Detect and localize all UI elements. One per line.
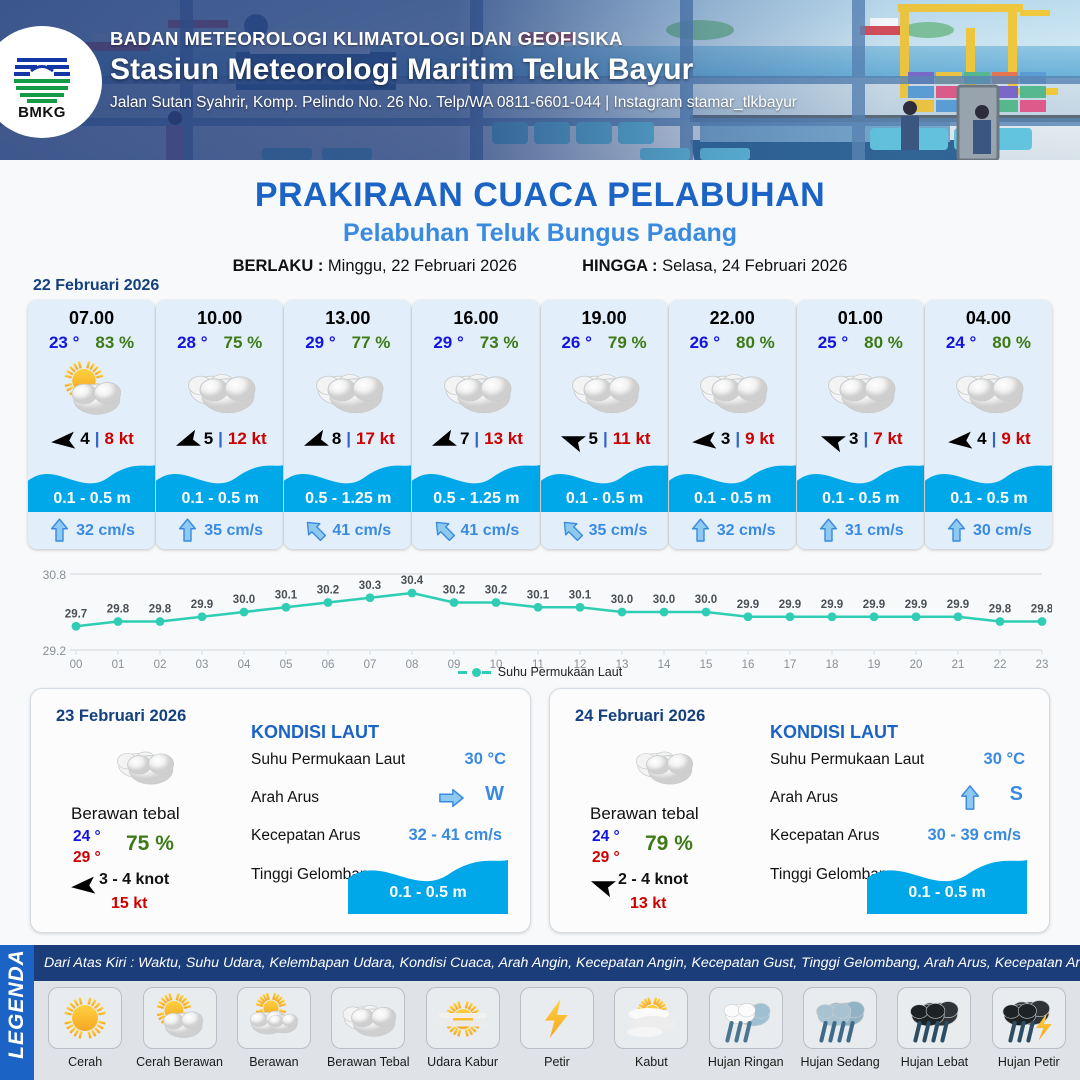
forecast-card: 04.00 24 ° 80 % 4 | 9 kt 0.1 - 0.5 m [925,300,1052,549]
weather-cloudy-icon [925,357,1052,423]
legend-item-label: Petir [544,1055,570,1069]
wave-height-value: 0.1 - 0.5 m [156,490,283,508]
header-organization: BADAN METEOROLOGI KLIMATOLOGI DAN GEOFIS… [110,28,797,50]
wind-direction-arrow-icon [49,429,75,449]
chart-legend-marker [472,668,481,677]
panel-date: 23 Februari 2026 [56,707,186,726]
legend-item-label: Cerah Berawan [136,1055,223,1069]
card-current: 41 cm/s [284,518,411,543]
card-wind: 7 | 13 kt [412,429,539,449]
card-temperature: 26 ° [690,333,720,353]
panel-temp-min: 24 ° [592,828,620,846]
legend-note: Dari Atas Kiri : Waktu, Suhu Udara, Kele… [34,955,1080,971]
svg-text:30.4: 30.4 [401,575,424,587]
panel-label-sst: Suhu Permukaan Laut [251,751,405,769]
page-root: BMKG BADAN METEOROLOGI KLIMATOLOGI DAN G… [0,0,1080,1080]
gust-value: 12 kt [228,429,267,449]
legend-item: Cerah Berawan [132,987,226,1069]
svg-text:30.0: 30.0 [695,594,717,606]
header-address: Jalan Sutan Syahrir, Komp. Pelindo No. 2… [110,94,797,112]
panel-sea-heading: KONDISI LAUT [251,722,379,743]
panel-sst-value: 30 °C [984,750,1025,769]
wave-height-value: 0.1 - 0.5 m [925,490,1052,508]
wind-separator: | [864,429,869,449]
panel-wave-band [867,852,1027,914]
forecast-card: 01.00 25 ° 80 % 3 | 7 kt 0.1 - 0.5 m [797,300,924,549]
card-current: 35 cm/s [156,518,283,543]
svg-text:30.2: 30.2 [485,585,507,597]
wind-speed-value: 4 [977,429,986,449]
bmkg-logo-mark [11,44,73,106]
panel-current-direction-arrow-icon [957,785,983,811]
card-wind: 3 | 7 kt [797,429,924,449]
wave-height-value: 0.1 - 0.5 m [669,490,796,508]
card-temperature: 25 ° [818,333,848,353]
panel-wind-direction-arrow-icon [588,874,614,892]
wind-direction-arrow-icon [946,429,972,449]
weather-cloudy-icon [541,357,668,423]
weather-cloudy-icon [412,357,539,423]
legend-item: Berawan Tebal [321,987,415,1069]
svg-text:29.9: 29.9 [905,599,927,611]
fog-icon [614,987,688,1049]
card-temperature: 28 ° [177,333,207,353]
chart-legend-line [458,671,467,674]
legend-item: Cerah [38,987,132,1069]
wind-separator: | [218,429,223,449]
panel-current-direction-value: W [485,783,504,806]
svg-text:30.1: 30.1 [569,589,592,601]
legend-item-label: Udara Kabur [427,1055,498,1069]
wind-separator: | [474,429,479,449]
card-humidity: 80 % [864,333,903,353]
panel-gust: 15 kt [111,895,147,913]
wind-speed-value: 5 [589,429,598,449]
weather-cloudy-icon [284,357,411,423]
gust-value: 13 kt [484,429,523,449]
card-current: 32 cm/s [669,518,796,543]
chart-legend: Suhu Permukaan Laut [0,665,1080,679]
svg-text:29.8: 29.8 [1031,604,1052,616]
sun-cloud-icon [143,987,217,1049]
svg-text:29.8: 29.8 [989,604,1012,616]
current-speed-value: 35 cm/s [589,522,648,540]
legend-item: Kabut [604,987,698,1069]
panel-humidity: 75 % [126,832,174,856]
panel-current-speed-value: 32 - 41 cm/s [408,826,502,845]
current-direction-arrow-icon [305,518,326,543]
panel-label-current-direction: Arah Arus [770,789,838,807]
gust-value: 8 kt [105,429,134,449]
current-direction-arrow-icon [49,518,70,543]
current-speed-value: 41 cm/s [332,522,391,540]
card-time: 10.00 [197,308,242,329]
panel-condition: Berawan tebal [71,804,180,824]
panel-label-current-speed: Kecepatan Arus [770,827,879,845]
wind-speed-value: 5 [204,429,213,449]
current-speed-value: 32 cm/s [717,522,776,540]
card-wind: 5 | 11 kt [541,429,668,449]
card-temperature: 29 ° [433,333,463,353]
panel-weather-cloudy-icon [628,739,698,791]
chart-legend-label: Suhu Permukaan Laut [498,665,622,679]
legend-item-label: Kabut [635,1055,668,1069]
forecast-date-label: 22 Februari 2026 [33,277,159,295]
panel-wave-height-value: 0.1 - 0.5 m [348,884,508,902]
card-time: 07.00 [69,308,114,329]
panel-humidity: 79 % [645,832,693,856]
wave-height-value: 0.5 - 1.25 m [412,490,539,508]
valid-from-label: BERLAKU : [233,257,324,275]
thunderstorm-icon [992,987,1066,1049]
forecast-card: 10.00 28 ° 75 % 5 | 12 kt 0.1 - 0.5 m [156,300,283,549]
wave-height-value: 0.1 - 0.5 m [28,490,155,508]
panel-condition: Berawan tebal [590,804,699,824]
gust-value: 9 kt [745,429,774,449]
panel-current-speed-value: 30 - 39 cm/s [927,826,1021,845]
card-time: 13.00 [325,308,370,329]
daily-summary-panels: 23 Februari 2026 Berawan tebal 24 ° 29 °… [30,688,1050,933]
wind-direction-arrow-icon [301,429,327,449]
panel-wind-direction-arrow-icon [69,874,95,892]
legend-item-label: Hujan Lebat [901,1055,968,1069]
legend-item-label: Hujan Ringan [708,1055,784,1069]
legend-note-bar: Dari Atas Kiri : Waktu, Suhu Udara, Kele… [34,945,1080,981]
wave-height-value: 0.5 - 1.25 m [284,490,411,508]
svg-text:30.1: 30.1 [275,589,298,601]
forecast-card: 16.00 29 ° 73 % 7 | 13 kt 0.5 - 1.25 [412,300,539,549]
panel-sea-heading: KONDISI LAUT [770,722,898,743]
weather-cloudy-icon [156,357,283,423]
card-time: 16.00 [453,308,498,329]
legend-item: Hujan Petir [982,987,1076,1069]
page-title: PRAKIRAAN CUACA PELABUHAN [0,176,1080,215]
panel-wind-speed: 3 - 4 knot [99,871,169,889]
card-humidity: 77 % [352,333,391,353]
card-humidity: 83 % [95,333,134,353]
card-humidity: 80 % [992,333,1031,353]
svg-text:30.0: 30.0 [233,594,255,606]
daily-summary-panel: 23 Februari 2026 Berawan tebal 24 ° 29 °… [30,688,531,933]
card-current: 32 cm/s [28,518,155,543]
daily-summary-panel: 24 Februari 2026 Berawan tebal 24 ° 29 °… [549,688,1050,933]
valid-until-label: HINGGA : [582,257,657,275]
svg-text:29.9: 29.9 [779,599,801,611]
card-current: 35 cm/s [541,518,668,543]
forecast-card: 22.00 26 ° 80 % 3 | 9 kt 0.1 - 0.5 m [669,300,796,549]
current-speed-value: 35 cm/s [204,522,263,540]
legend-item: Udara Kabur [415,987,509,1069]
card-wind: 5 | 12 kt [156,429,283,449]
current-speed-value: 41 cm/s [461,522,520,540]
wind-speed-value: 8 [332,429,341,449]
wind-separator: | [992,429,997,449]
card-wind: 3 | 9 kt [669,429,796,449]
panel-temp-max: 29 ° [592,849,620,867]
forecast-card: 19.00 26 ° 79 % 5 | 11 kt 0.1 - 0.5 m [541,300,668,549]
card-wind: 4 | 8 kt [28,429,155,449]
card-humidity: 79 % [608,333,647,353]
valid-from-value: Minggu, 22 Februari 2026 [328,257,517,275]
card-temperature: 23 ° [49,333,79,353]
card-temperature: 29 ° [305,333,335,353]
wind-direction-arrow-icon [690,429,716,449]
svg-text:30.3: 30.3 [359,580,381,592]
legend-item: Hujan Lebat [887,987,981,1069]
haze-icon [426,987,500,1049]
sst-chart: 30.829.200010203040506070809101112131415… [28,558,1052,676]
forecast-card-row: 07.00 23 ° 83 % 4 | 8 kt 0.1 - 0.5 m [28,300,1052,549]
card-time: 04.00 [966,308,1011,329]
gust-value: 9 kt [1001,429,1030,449]
panel-current-direction-value: S [1010,783,1023,806]
card-wind: 4 | 9 kt [925,429,1052,449]
current-direction-arrow-icon [434,518,455,543]
moderate-rain-icon [803,987,877,1049]
card-wind: 8 | 17 kt [284,429,411,449]
wind-direction-arrow-icon [429,429,455,449]
current-direction-arrow-icon [177,518,198,543]
legend-item-label: Cerah [68,1055,102,1069]
svg-text:30.1: 30.1 [527,589,550,601]
current-speed-value: 32 cm/s [76,522,135,540]
panel-temp-max: 29 ° [73,849,101,867]
current-direction-arrow-icon [946,518,967,543]
header-station-name: Stasiun Meteorologi Maritim Teluk Bayur [110,53,797,87]
wind-separator: | [346,429,351,449]
panel-current-direction-arrow-icon [438,785,464,811]
wind-separator: | [95,429,100,449]
legend-item-label: Berawan Tebal [327,1055,409,1069]
card-humidity: 80 % [736,333,775,353]
card-humidity: 75 % [224,333,263,353]
svg-text:30.2: 30.2 [443,585,465,597]
card-humidity: 73 % [480,333,519,353]
legend-item: Hujan Ringan [699,987,793,1069]
gust-value: 7 kt [873,429,902,449]
card-time: 22.00 [710,308,755,329]
panel-wind-speed: 2 - 4 knot [618,871,688,889]
current-speed-value: 31 cm/s [845,522,904,540]
current-direction-arrow-icon [562,518,583,543]
page-subtitle: Pelabuhan Teluk Bungus Padang [0,219,1080,248]
legend-item-label: Berawan [249,1055,298,1069]
wind-direction-arrow-icon [173,429,199,449]
panel-weather-cloudy-icon [109,739,179,791]
panel-temp-min: 24 ° [73,828,101,846]
wind-speed-value: 7 [460,429,469,449]
weather-cloudy-icon [669,357,796,423]
panel-label-sst: Suhu Permukaan Laut [770,751,924,769]
legend-side-banner: LEGENDA [0,945,34,1080]
card-time: 19.00 [582,308,627,329]
weather-cloudy-icon [797,357,924,423]
svg-text:29.9: 29.9 [821,599,843,611]
legend-item: Hujan Sedang [793,987,887,1069]
svg-text:29.9: 29.9 [191,599,213,611]
wind-direction-arrow-icon [818,429,844,449]
wave-height-value: 0.1 - 0.5 m [541,490,668,508]
wind-speed-value: 3 [721,429,730,449]
svg-text:29.8: 29.8 [107,604,130,616]
title-block: PRAKIRAAN CUACA PELABUHAN Pelabuhan Telu… [0,160,1080,276]
current-speed-value: 30 cm/s [973,522,1032,540]
panel-wave-height-value: 0.1 - 0.5 m [867,884,1027,902]
card-time: 01.00 [838,308,883,329]
forecast-card: 13.00 29 ° 77 % 8 | 17 kt 0.5 - 1.25 [284,300,411,549]
legend-item: Petir [510,987,604,1069]
legend-item-label: Hujan Petir [998,1055,1060,1069]
svg-text:30.2: 30.2 [317,585,339,597]
svg-text:29.2: 29.2 [43,644,67,658]
wave-height-value: 0.1 - 0.5 m [797,490,924,508]
wind-separator: | [735,429,740,449]
clouds-icon [331,987,405,1049]
panel-label-current-direction: Arah Arus [251,789,319,807]
legend-icon-row: Cerah Cerah Berawan Berawan [34,981,1080,1080]
gust-value: 11 kt [613,429,651,449]
current-direction-arrow-icon [818,518,839,543]
panel-wave-band [348,852,508,914]
wind-separator: | [603,429,608,449]
legend-section: LEGENDA Dari Atas Kiri : Waktu, Suhu Uda… [0,945,1080,1080]
legend-item-label: Hujan Sedang [800,1055,879,1069]
current-direction-arrow-icon [690,518,711,543]
panel-label-current-speed: Kecepatan Arus [251,827,360,845]
sun-icon [48,987,122,1049]
svg-text:29.9: 29.9 [737,599,759,611]
card-current: 41 cm/s [412,518,539,543]
wind-direction-arrow-icon [558,429,584,449]
light-rain-icon [709,987,783,1049]
card-current: 30 cm/s [925,518,1052,543]
panel-gust: 13 kt [630,895,666,913]
card-temperature: 26 ° [561,333,591,353]
forecast-card: 07.00 23 ° 83 % 4 | 8 kt 0.1 - 0.5 m [28,300,155,549]
validity-line: BERLAKU : Minggu, 22 Februari 2026 HINGG… [0,257,1080,276]
svg-text:29.9: 29.9 [947,599,969,611]
cloud-sun-icon [237,987,311,1049]
svg-text:29.8: 29.8 [149,604,172,616]
valid-until-value: Selasa, 24 Februari 2026 [662,257,847,275]
card-temperature: 24 ° [946,333,976,353]
bmkg-logo-text: BMKG [18,104,66,121]
wind-speed-value: 4 [80,429,89,449]
svg-text:30.0: 30.0 [653,594,675,606]
legend-side-title: LEGENDA [5,946,29,1062]
svg-text:30.8: 30.8 [43,568,67,582]
lightning-icon [520,987,594,1049]
svg-text:29.7: 29.7 [65,608,87,620]
heavy-rain-icon [897,987,971,1049]
legend-item: Berawan [227,987,321,1069]
gust-value: 17 kt [356,429,395,449]
card-current: 31 cm/s [797,518,924,543]
svg-text:29.9: 29.9 [863,599,885,611]
weather-partly-cloudy-icon [28,357,155,423]
header-text-block: BADAN METEOROLOGI KLIMATOLOGI DAN GEOFIS… [110,28,797,112]
wind-speed-value: 3 [849,429,858,449]
panel-sst-value: 30 °C [465,750,506,769]
panel-date: 24 Februari 2026 [575,707,705,726]
page-header: BMKG BADAN METEOROLOGI KLIMATOLOGI DAN G… [0,0,1080,160]
svg-text:30.0: 30.0 [611,594,633,606]
